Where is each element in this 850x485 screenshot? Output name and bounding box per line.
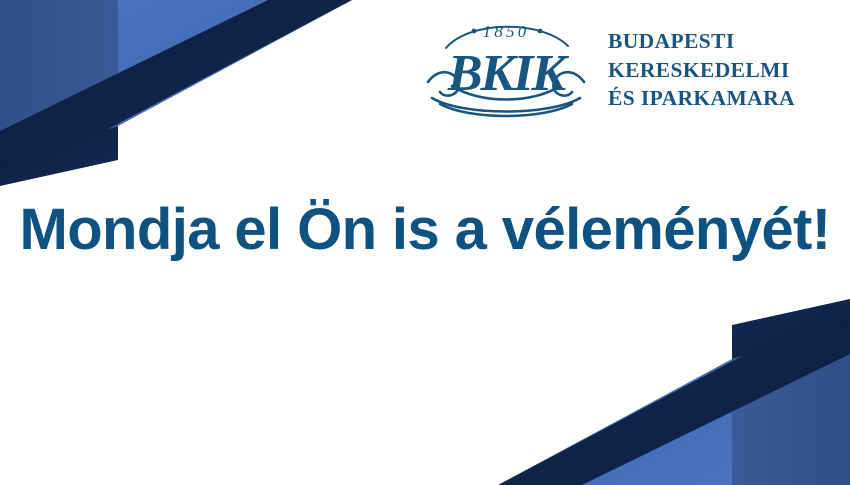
deco-shape-navy-ribbon-top: [0, 0, 352, 186]
bkik-wordmark: BUDAPESTI KERESKEDELMI ÉS IPARKAMARA: [608, 19, 795, 112]
deco-shape-mid-blue-bottom: [732, 325, 850, 485]
deco-shape-navy-ribbon-bottom: [498, 299, 850, 485]
bkik-monogram-logo-icon: 1850 BKIK: [418, 12, 594, 120]
wordmark-line-3: ÉS IPARKAMARA: [608, 84, 795, 112]
headline-text: Mondja el Ön is a véleményét!: [0, 198, 850, 263]
deco-shape-light-blue-top: [118, 0, 352, 126]
wordmark-line-2: KERESKEDELMI: [608, 56, 795, 84]
logo-year-text: 1850: [483, 22, 530, 41]
deco-shape-navy-wedge-bottom: [732, 299, 850, 359]
deco-top-left-group: [0, 0, 352, 186]
deco-bottom-right-group: [498, 299, 850, 485]
promo-banner: 1850 BKIK BUDAPESTI KERESKEDELMI ÉS IPAR…: [0, 0, 850, 485]
logo-monogram-text: BKIK: [447, 45, 570, 102]
deco-shape-mid-blue-top: [0, 0, 118, 160]
deco-shape-light-blue-bottom: [498, 359, 732, 485]
wordmark-line-1: BUDAPESTI: [608, 27, 795, 55]
bkik-logo: 1850 BKIK BUDAPESTI KERESKEDELMI ÉS IPAR…: [418, 12, 795, 120]
deco-shape-navy-wedge-top: [0, 126, 118, 186]
